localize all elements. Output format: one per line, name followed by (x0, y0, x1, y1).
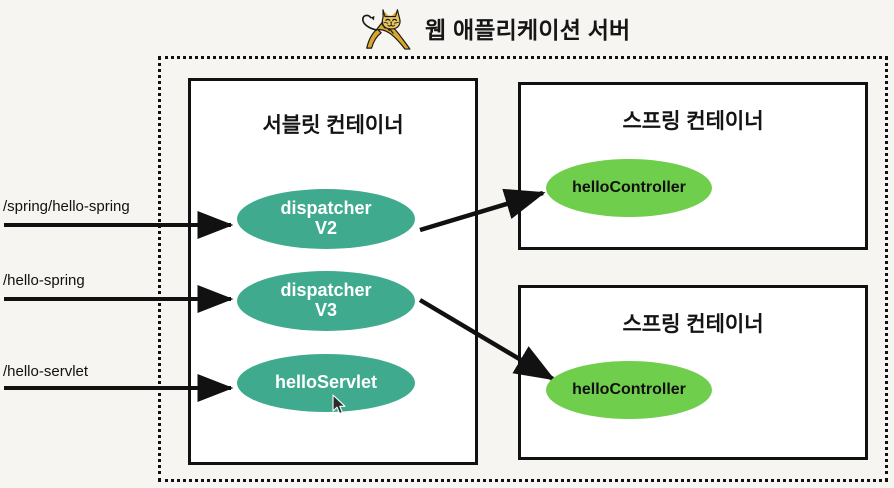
spring-container-box-1: 스프링 컨테이너 (518, 82, 868, 250)
spring-container-title-1: 스프링 컨테이너 (521, 105, 865, 135)
url-label-spring-hello-spring: /spring/hello-spring (3, 198, 130, 215)
node-dispatcher-v2[interactable]: dispatcher V2 (237, 189, 415, 249)
url-label-hello-spring: /hello-spring (3, 272, 85, 289)
tomcat-cat-icon (355, 5, 413, 51)
node-dispatcher-v2-line1: dispatcher (280, 199, 371, 219)
mouse-pointer-icon (332, 394, 348, 416)
page-title: 웹 애플리케이션 서버 (425, 11, 630, 45)
diagram-canvas: 웹 애플리케이션 서버 서블릿 컨테이너 스프링 컨테이너 스프링 컨테이너 d… (0, 0, 894, 488)
servlet-container-title: 서블릿 컨테이너 (191, 109, 475, 139)
node-dispatcher-v3-line2: V3 (280, 301, 371, 321)
url-label-hello-servlet: /hello-servlet (3, 363, 88, 380)
node-hello-controller-2-label: helloController (572, 381, 686, 399)
node-dispatcher-v2-line2: V2 (280, 219, 371, 239)
node-dispatcher-v3[interactable]: dispatcher V3 (237, 271, 415, 331)
node-hello-servlet[interactable]: helloServlet (237, 354, 415, 412)
spring-container-title-2: 스프링 컨테이너 (521, 308, 865, 338)
node-hello-controller-2[interactable]: helloController (546, 361, 712, 419)
diagram-header: 웹 애플리케이션 서버 (355, 4, 775, 52)
node-hello-servlet-label: helloServlet (275, 373, 377, 393)
node-hello-controller-1-label: helloController (572, 179, 686, 197)
node-hello-controller-1[interactable]: helloController (546, 159, 712, 217)
node-dispatcher-v3-line1: dispatcher (280, 281, 371, 301)
